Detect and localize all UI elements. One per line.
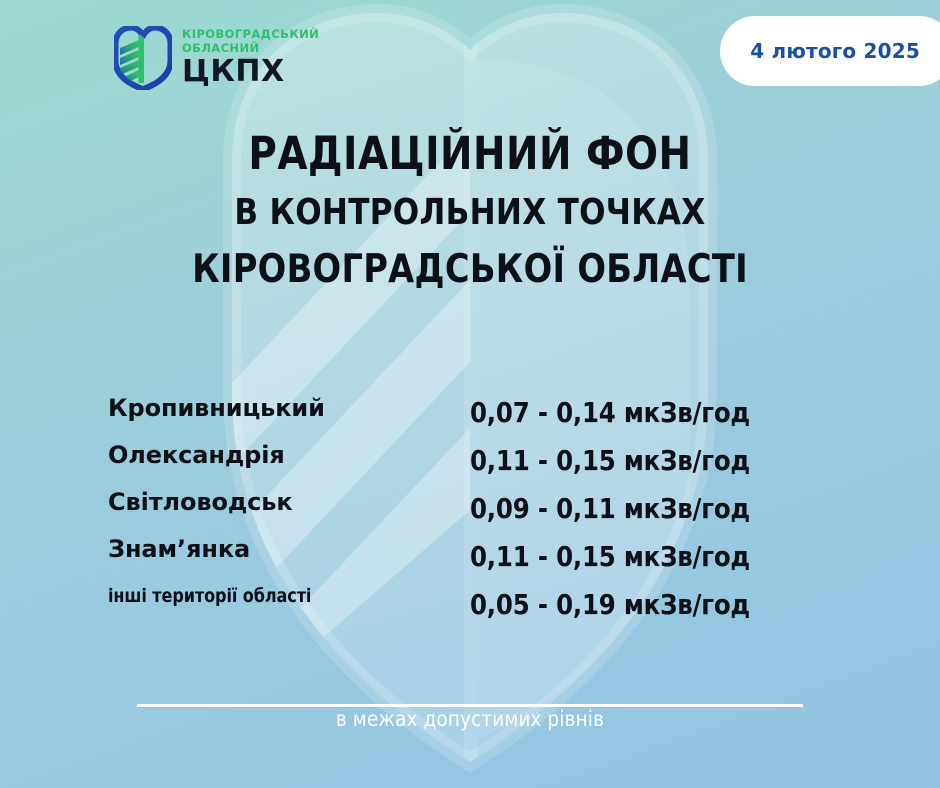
brand-line-2: ОБЛАСНИЙ (182, 43, 319, 55)
table-row: Олександрія 0,11 - 0,15 мкЗв/год (0, 431, 940, 478)
footer-note: в межах допустимих рівнів (14, 707, 926, 731)
location-value: 0,05 - 0,19 мкЗв/год (470, 581, 750, 628)
table-row: Знам’янка 0,11 - 0,15 мкЗв/год (0, 525, 940, 572)
location-name: Кропивницький (108, 384, 325, 431)
brand-line-1: КІРОВОГРАДСЬКИЙ (182, 29, 319, 41)
page-title-line-2: В КОНТРОЛЬНИХ ТОЧКАХ (19, 182, 921, 244)
header: КІРОВОГРАДСЬКИЙ ОБЛАСНИЙ ЦКПХ 4 лютого 2… (0, 0, 940, 110)
location-value: 0,11 - 0,15 мкЗв/год (470, 437, 750, 484)
radiation-background-poster: КІРОВОГРАДСЬКИЙ ОБЛАСНИЙ ЦКПХ 4 лютого 2… (0, 0, 940, 788)
page-title-line-3: КІРОВОГРАДСЬКОЇ ОБЛАСТІ (19, 244, 921, 296)
date-badge-label: 4 лютого 2025 (750, 39, 920, 63)
brand-wordmark: КІРОВОГРАДСЬКИЙ ОБЛАСНИЙ ЦКПХ (182, 29, 319, 87)
table-row: інші території області 0,05 - 0,19 мкЗв/… (0, 572, 940, 619)
page-title: РАДІАЦІЙНИЙ ФОН В КОНТРОЛЬНИХ ТОЧКАХ КІР… (0, 126, 940, 296)
table-row: Кропивницький 0,07 - 0,14 мкЗв/год (0, 384, 940, 431)
location-name: Світловодськ (108, 478, 293, 525)
date-badge: 4 лютого 2025 (720, 16, 940, 86)
location-name: Знам’янка (108, 525, 250, 572)
shield-leaf-logo-icon (114, 26, 172, 90)
brand-abbreviation: ЦКПХ (182, 57, 319, 87)
readings-table: Кропивницький 0,07 - 0,14 мкЗв/год Олекс… (0, 384, 940, 619)
brand-logo[interactable]: КІРОВОГРАДСЬКИЙ ОБЛАСНИЙ ЦКПХ (114, 26, 319, 90)
page-title-line-1: РАДІАЦІЙНИЙ ФОН (19, 126, 921, 182)
location-value: 0,07 - 0,14 мкЗв/год (470, 389, 750, 436)
table-row: Світловодськ 0,09 - 0,11 мкЗв/год (0, 478, 940, 525)
location-name: Олександрія (108, 431, 285, 478)
location-name: інші території області (108, 572, 311, 619)
